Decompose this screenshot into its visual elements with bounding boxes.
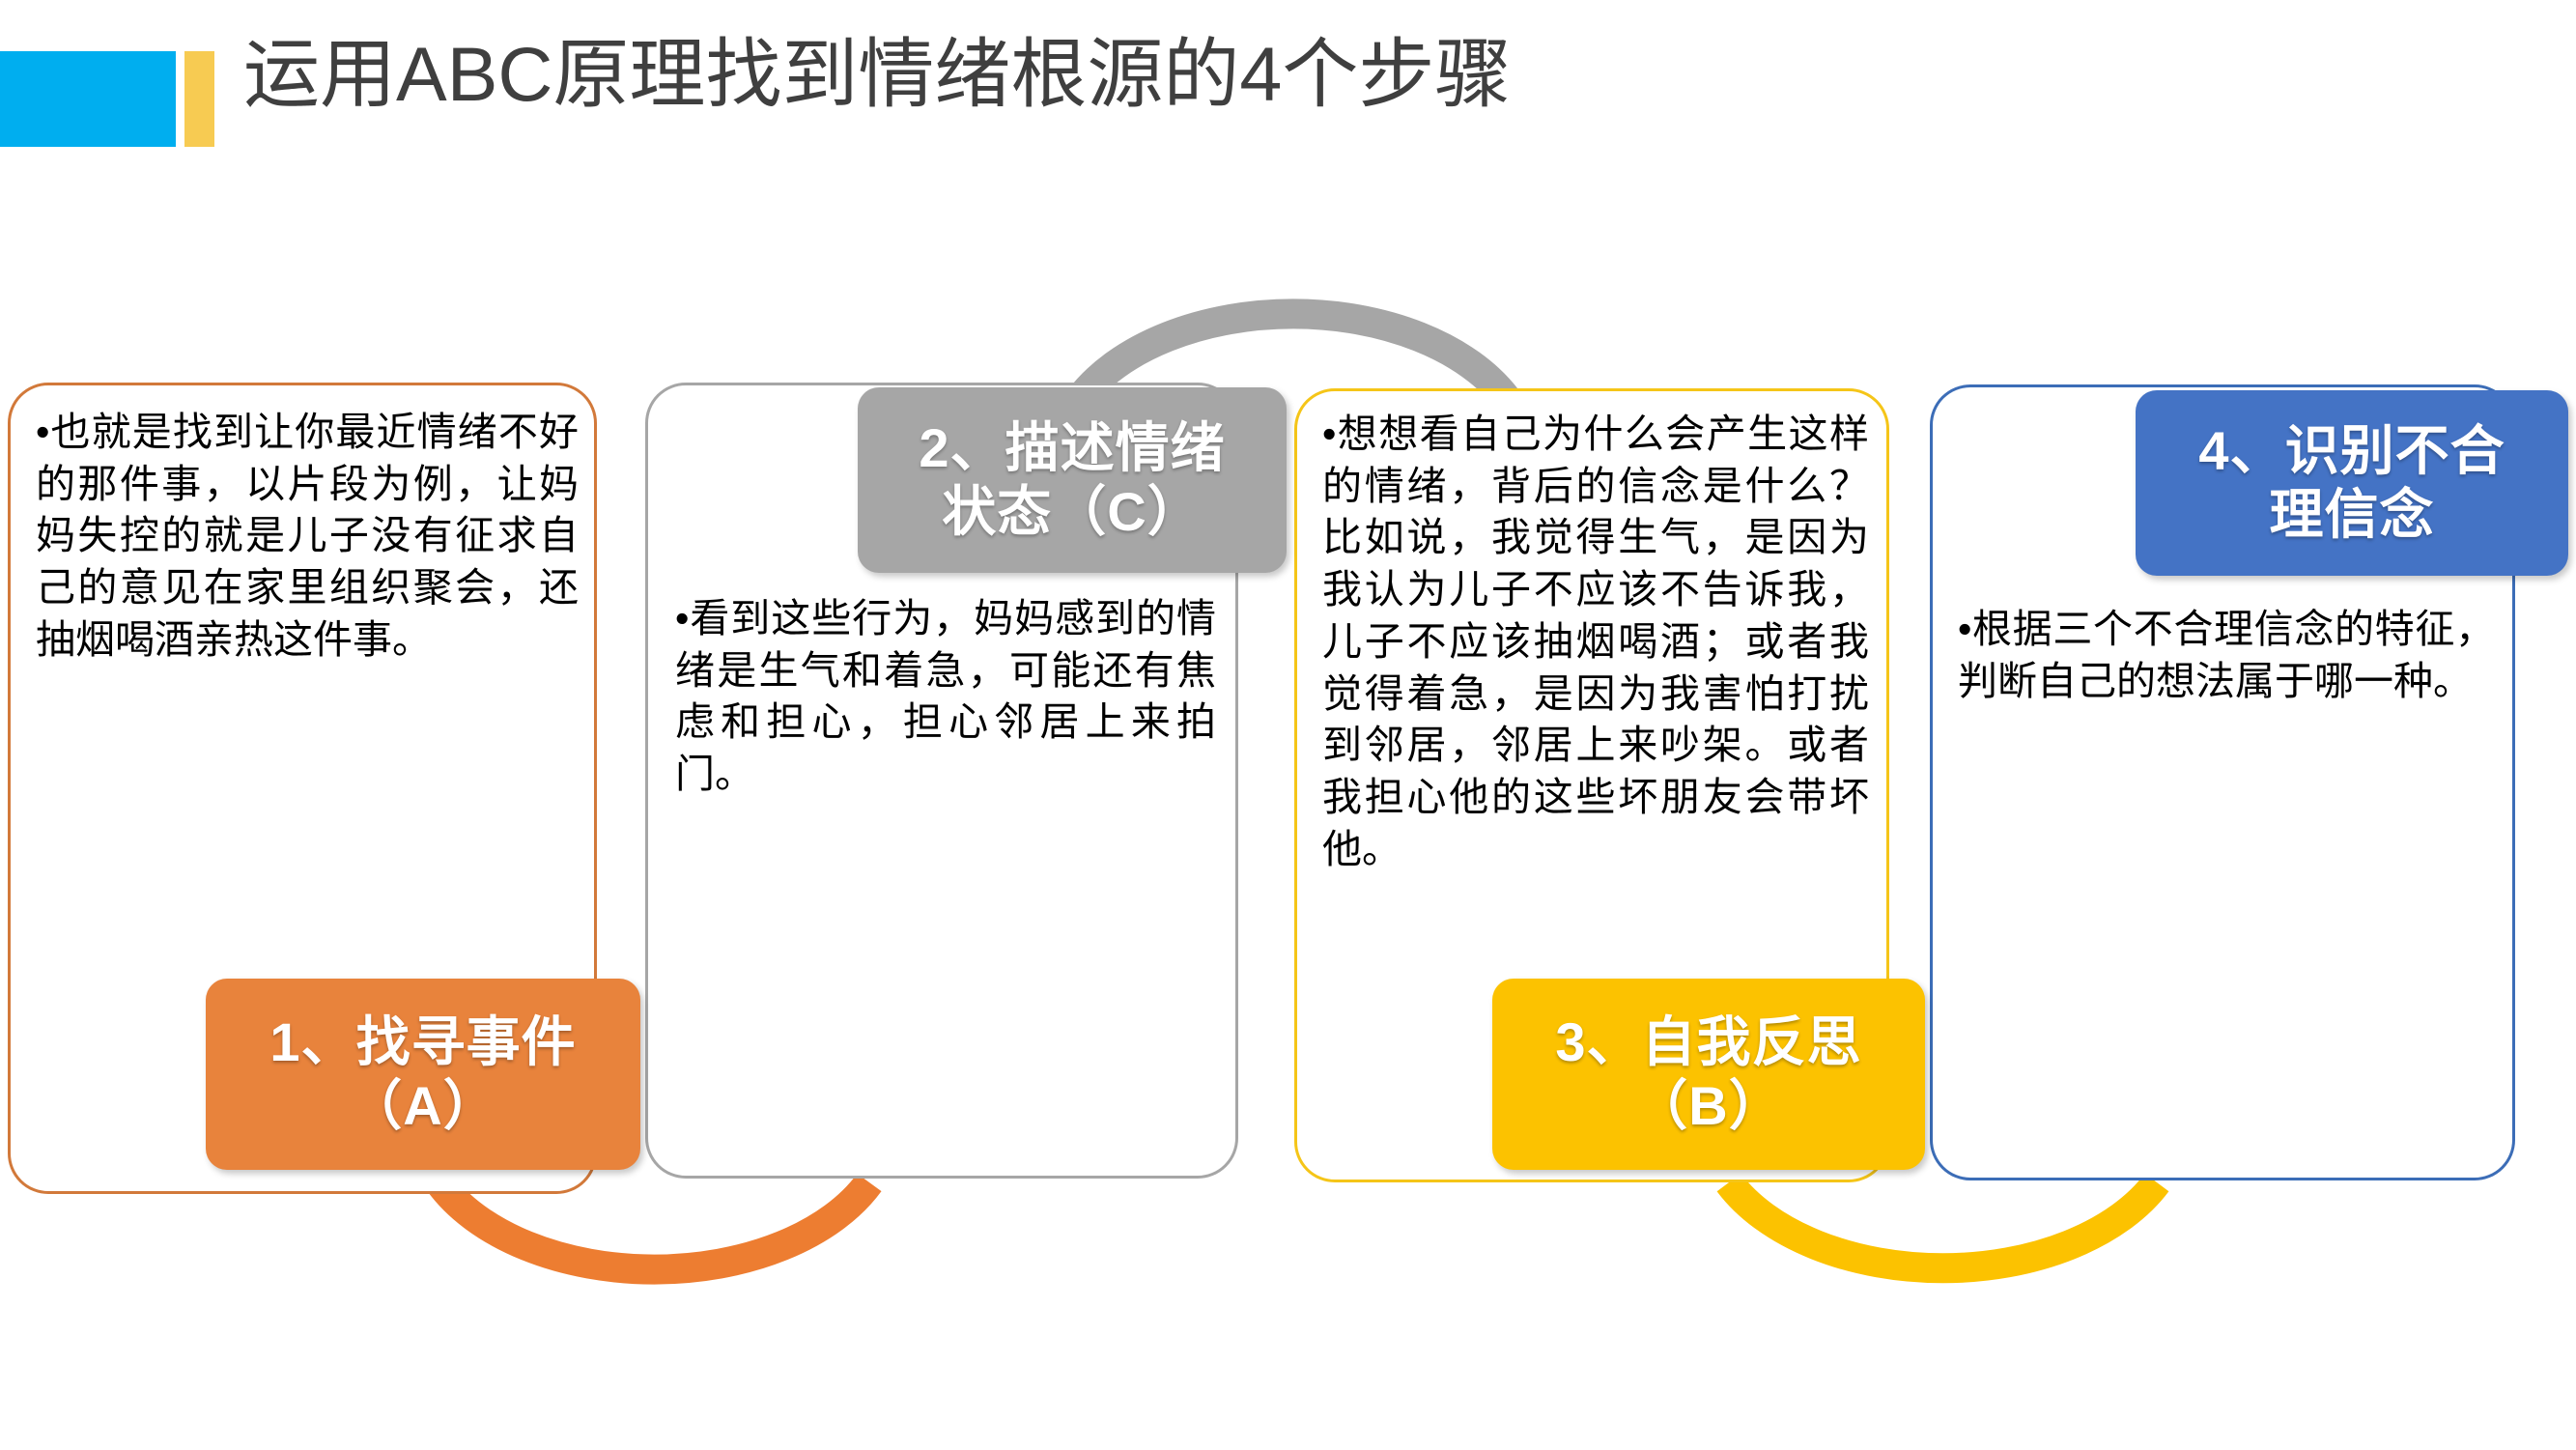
step-badge-3-line1: 3、自我反思 [1555, 1010, 1861, 1074]
step-card-3-text: •想想看自己为什么会产生这样的情绪，背后的信念是什么？比如说，我觉得生气，是因为… [1322, 409, 1869, 875]
step-badge-4-line2: 理信念 [2270, 483, 2435, 547]
step-badge-1[interactable]: 1、找寻事件 （A） [206, 979, 640, 1170]
step-badge-1-line1: 1、找寻事件 [269, 1010, 576, 1074]
arc-card1-to-card2 [439, 1182, 869, 1269]
step-badge-3[interactable]: 3、自我反思 （B） [1492, 979, 1925, 1170]
step-card-2-text: •看到这些行为，妈妈感到的情绪是生气和着急，可能还有焦虑和担心，担心邻居上来拍门… [675, 593, 1216, 801]
accent-block-blue [0, 51, 176, 147]
step-badge-4[interactable]: 4、识别不合 理信念 [2136, 390, 2568, 576]
step-badge-3-line2: （B） [1633, 1074, 1783, 1138]
step-badge-1-line2: （A） [348, 1074, 497, 1138]
page-header: 运用ABC原理找到情绪根源的4个步骤 [0, 0, 2576, 193]
step-card-4-text: •根据三个不合理信念的特征，判断自己的想法属于哪一种。 [1958, 604, 2495, 707]
step-badge-4-line1: 4、识别不合 [2198, 419, 2505, 483]
step-badge-2-line2: 状态（C） [942, 480, 1202, 544]
arc-card3-to-card4 [1729, 1182, 2157, 1268]
step-badge-2-line1: 2、描述情绪 [919, 416, 1225, 480]
step-card-1-text: •也就是找到让你最近情绪不好的那件事，以片段为例，让妈妈失控的就是儿子没有征求自… [36, 407, 579, 667]
page-title: 运用ABC原理找到情绪根源的4个步骤 [243, 27, 1511, 123]
accent-bar-yellow [184, 51, 214, 147]
step-badge-2[interactable]: 2、描述情绪 状态（C） [858, 387, 1287, 573]
